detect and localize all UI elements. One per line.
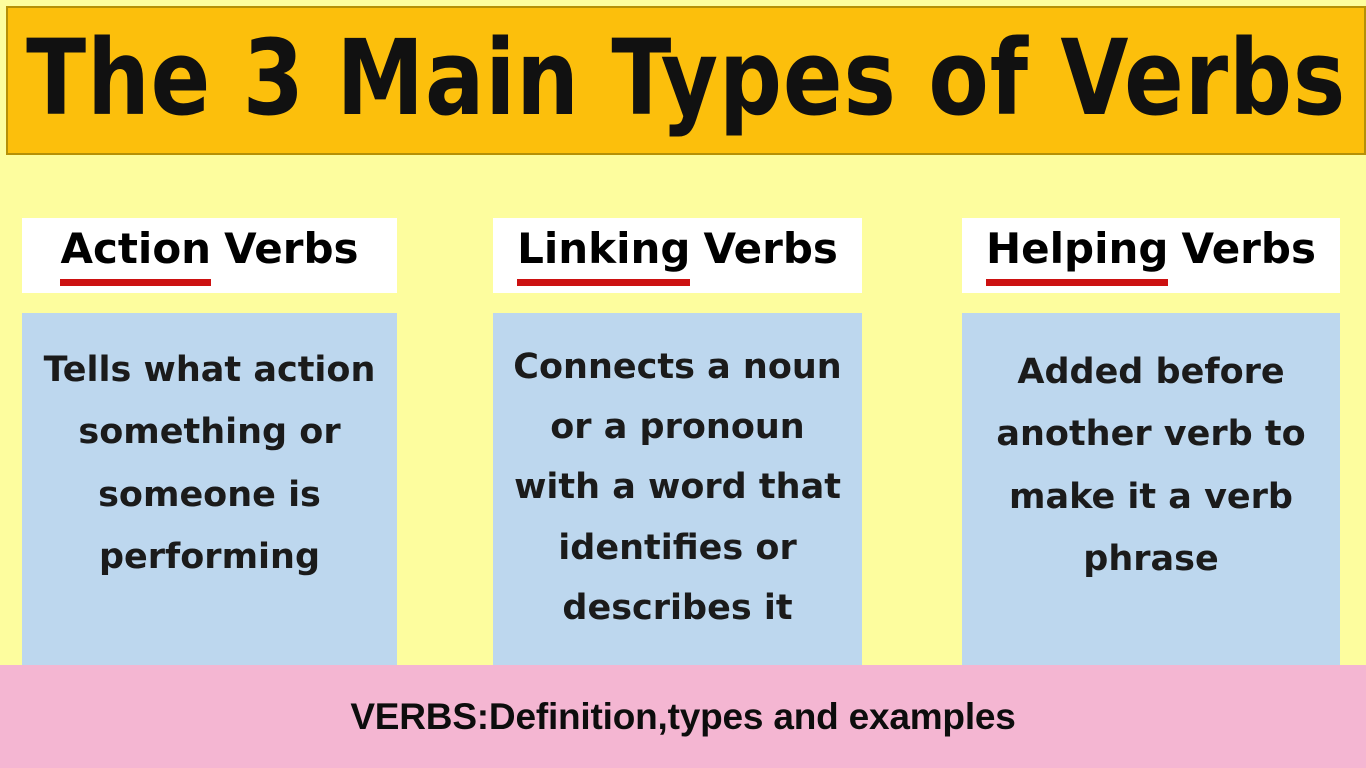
description-line: or a pronoun	[503, 397, 852, 457]
description-line: performing	[32, 526, 387, 588]
description-line: make it a verb	[972, 466, 1330, 528]
card-title-linking: LinkingVerbs	[493, 224, 862, 273]
description-line: Tells what action	[32, 339, 387, 401]
card-title-first-word: Helping	[986, 224, 1168, 286]
card-title-strip-action: ActionVerbs	[22, 218, 397, 293]
card-title-second-word: Verbs	[703, 224, 837, 273]
footer-banner: VERBS:Definition,types and examples	[0, 665, 1366, 768]
card-title-action: ActionVerbs	[22, 224, 397, 273]
verb-type-column-linking: LinkingVerbs Connects a noun or a pronou…	[493, 155, 862, 665]
description-line: identifies or	[503, 518, 852, 578]
verb-types-columns: ActionVerbs Tells what action something …	[0, 155, 1366, 665]
footer-caption: VERBS:Definition,types and examples	[350, 696, 1015, 738]
card-title-strip-helping: HelpingVerbs	[962, 218, 1340, 293]
verb-type-column-action: ActionVerbs Tells what action something …	[22, 155, 397, 665]
description-line: something or	[32, 401, 387, 463]
description-line: another verb to	[972, 403, 1330, 465]
card-title-strip-linking: LinkingVerbs	[493, 218, 862, 293]
card-title-first-word: Action	[60, 224, 211, 286]
description-line: with a word that	[503, 457, 852, 517]
description-card-linking: Connects a noun or a pronoun with a word…	[493, 313, 862, 665]
description-line: Added before	[972, 341, 1330, 403]
title-banner: The 3 Main Types of Verbs	[6, 6, 1366, 155]
description-card-helping: Added before another verb to make it a v…	[962, 313, 1340, 665]
description-line: Connects a noun	[503, 337, 852, 397]
card-title-first-word: Linking	[517, 224, 690, 286]
description-line: describes it	[503, 578, 852, 638]
description-line: phrase	[972, 528, 1330, 590]
card-title-second-word: Verbs	[224, 224, 358, 273]
description-card-action: Tells what action something or someone i…	[22, 313, 397, 665]
description-line: someone is	[32, 464, 387, 526]
page-title: The 3 Main Types of Verbs	[26, 26, 1346, 136]
verb-type-column-helping: HelpingVerbs Added before another verb t…	[962, 155, 1340, 665]
card-title-helping: HelpingVerbs	[962, 224, 1340, 273]
card-title-second-word: Verbs	[1181, 224, 1315, 273]
